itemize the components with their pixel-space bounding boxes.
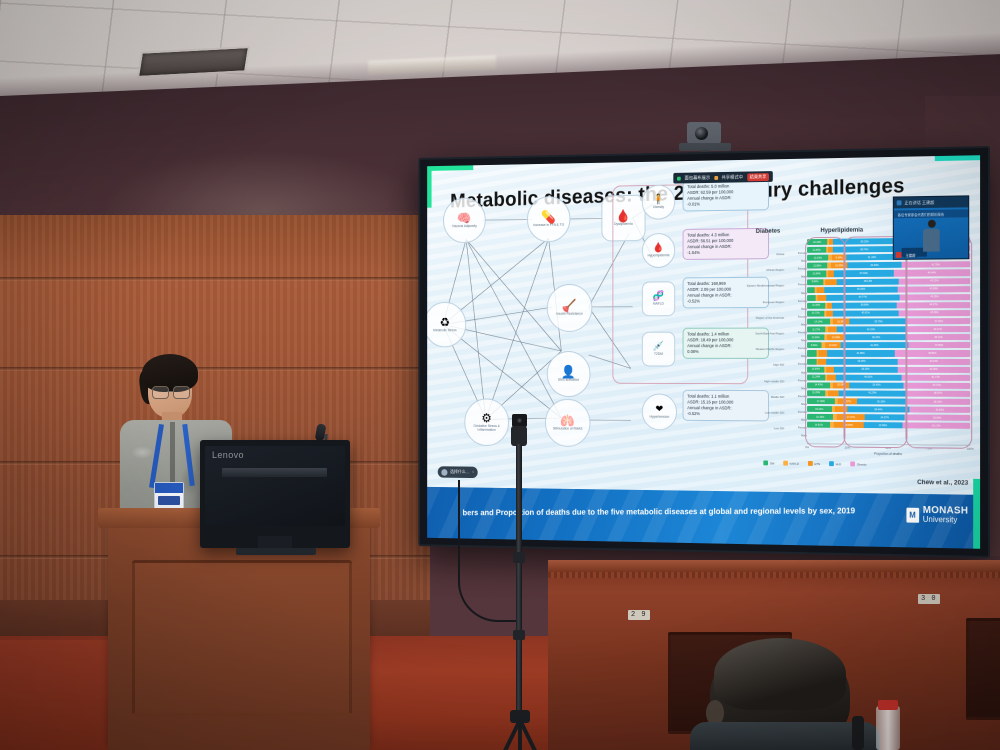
chart-segment-hld: 38.25% xyxy=(845,334,907,340)
node-label: Hypertension xyxy=(650,415,670,419)
chart-segment-obesity: 43.38% xyxy=(899,310,970,316)
pip-torso xyxy=(923,229,940,252)
pip-banner: 各位专家参会代表们的精彩报告 xyxy=(894,209,968,218)
chart-bar-row: 14.51%18.05%23.89%41.17% xyxy=(807,422,970,429)
chart-segment-dm: 11.84% xyxy=(807,271,826,277)
chart-row-label: Male xyxy=(786,260,809,263)
legend-swatch-icon xyxy=(808,461,813,466)
chart-segment-hld: 39.23% xyxy=(833,238,897,245)
chart-segment-obesity: 44.37% xyxy=(897,302,970,309)
outcome-node-nafld[interactable]: 🧬 NAFLD xyxy=(642,281,675,316)
chart-segment-dm: 14.14% xyxy=(807,319,830,325)
screen-green-accent-top-left xyxy=(427,165,473,171)
chart-segment-htn: 11.87% xyxy=(837,398,856,404)
stacked-bar-chart: Diabetes Hyperlipidemia Obesity Female12… xyxy=(752,225,976,469)
liver-icon: 🧬 xyxy=(653,292,665,302)
chart-region-label: High SDI xyxy=(733,364,784,367)
chart-segment-hld: 38.13% xyxy=(837,278,899,285)
tripod-pole xyxy=(516,444,522,714)
chart-row-label: Female xyxy=(786,331,809,334)
signal-icon xyxy=(677,176,681,180)
node-label: T2DM xyxy=(654,353,663,357)
chart-segment-htn: 10.09% xyxy=(833,382,849,388)
chart-segment-obesity: 41.17% xyxy=(902,423,970,430)
chart-region-label: Low SDI xyxy=(733,427,784,431)
chart-segment-dm: 13.33% xyxy=(807,255,828,261)
monitor-stand-foot xyxy=(236,548,316,555)
chart-segment-dm: 14.51% xyxy=(807,422,830,428)
chart-segment-hld: 33.43% xyxy=(849,382,903,388)
chart-row-label: Female xyxy=(786,268,809,271)
chart-segment-htn xyxy=(818,358,826,364)
pip-footer: 王建超 xyxy=(896,252,918,258)
legend-swatch-icon xyxy=(763,460,768,465)
chart-row-label: Male xyxy=(786,355,809,358)
pip-head xyxy=(927,220,935,228)
chart-region-label: Region of the Americas xyxy=(733,317,784,320)
monash-subtext: University xyxy=(923,516,968,525)
chart-legend-item: HTN xyxy=(808,461,821,466)
diagram-node-sns-activation[interactable]: 👤 SNS activation xyxy=(547,351,591,397)
chart-region-label: Middle SDI xyxy=(733,396,784,399)
badge-name-block xyxy=(158,496,180,505)
carpet-left xyxy=(0,640,120,750)
chart-row-label: Female xyxy=(786,284,809,287)
chart-segment-htn xyxy=(828,326,836,332)
chart-segment-dm: 9.84% xyxy=(807,279,823,285)
chart-bar-row: 11.34%39.88%44.37% xyxy=(807,302,970,309)
stat-change-value: -0.01% xyxy=(687,201,764,208)
bottle-cap xyxy=(878,700,898,710)
chart-segment-hld: 39.88% xyxy=(832,302,897,308)
chart-segment-obesity: 39.94% xyxy=(904,415,970,422)
chart-segment-dm xyxy=(807,350,817,356)
chart-segment-hld: 35.73% xyxy=(850,318,908,324)
chart-segment-hld: 40.51% xyxy=(836,374,902,380)
chart-bar-row: 10.72%40.61%43.38% xyxy=(807,310,970,317)
chart-segment-htn: 18.05% xyxy=(834,422,863,428)
chart-region-label: Low-middle SDI xyxy=(733,411,784,414)
chart-segment-hld: 41.25% xyxy=(841,342,908,348)
chart-segment-hld: 32.94% xyxy=(848,262,902,269)
chart-legend: DMNAFLDHTNHLDObesity xyxy=(763,460,866,466)
screen-corner-pill[interactable]: 选择什么… ‹ xyxy=(438,466,478,478)
monash-wordmark: MONASH xyxy=(923,506,968,517)
chart-segment-htn xyxy=(828,390,838,396)
stop-share-button[interactable]: 结束共享 xyxy=(747,173,769,181)
chart-row-label: Female xyxy=(786,315,809,318)
share-mode-label: 共享模式中 xyxy=(721,174,743,180)
chart-region-label: Western Pacific Region xyxy=(733,348,784,351)
chart-bar-row: 10.84%39.15%44.26% xyxy=(807,366,970,372)
water-bottle xyxy=(876,706,900,750)
chart-segment-obesity: 43.22% xyxy=(899,278,970,285)
chart-x-tick: 100% xyxy=(967,447,974,451)
chart-bar-row: 17.08%11.87%30.18%39.03% xyxy=(807,398,970,405)
corner-pill-label: 选择什么… xyxy=(450,469,470,475)
glasses-lens-right xyxy=(173,386,190,399)
chart-segment-dm: 11.27% xyxy=(807,327,825,333)
legend-label: DM xyxy=(770,461,774,465)
chart-bar-row: 11.29%41.29%38.97% xyxy=(807,390,970,397)
kidney-lungs-icon: 🫁 xyxy=(560,414,575,427)
chart-segment-hld: 42.32% xyxy=(837,326,906,332)
chart-bar-row: 45.04%43.98% xyxy=(807,286,970,293)
chart-segment-obesity: 43.98% xyxy=(898,286,970,293)
pip-video-window[interactable]: 正在讲话 王建超 各位专家参会代表们的精彩报告 xyxy=(893,195,969,260)
audience-member-hair xyxy=(714,638,846,710)
chart-segment-hld: 41.86% xyxy=(827,350,895,356)
chart-segment-dm xyxy=(807,295,816,301)
chart-x-tick: 75% xyxy=(926,446,932,450)
speaker-icon xyxy=(897,200,902,205)
pip-speaker-figure xyxy=(923,220,940,254)
chart-row-label: Male xyxy=(786,323,809,326)
chart-segment-obesity: 41.78% xyxy=(901,261,970,268)
app-icon xyxy=(441,469,447,476)
chart-bar-row: 10.69%10.99%38.25%38.14% xyxy=(807,334,970,340)
chart-segment-obesity: 36.69% xyxy=(910,407,970,414)
pip-video-feed: 各位专家参会代表们的精彩报告 王建超 xyxy=(894,207,968,259)
chart-segment-obesity: 38.97% xyxy=(906,391,970,397)
bench-panel xyxy=(966,618,1000,720)
recycle-icon: ♻ xyxy=(440,316,450,328)
chart-segment-dm xyxy=(807,287,815,293)
monitor-brand-label: Lenovo xyxy=(212,450,244,460)
screen-green-accent-left xyxy=(427,166,431,208)
chart-region-label: South-East Asia Region xyxy=(733,332,784,335)
tripod-camera-lens-icon xyxy=(517,418,522,423)
chart-row-label: Male xyxy=(786,419,809,422)
chart-row-label: Male xyxy=(786,339,809,342)
chart-x-tick: 25% xyxy=(845,446,851,450)
chart-segment-htn xyxy=(818,295,827,301)
chart-segment-hld: 41.29% xyxy=(839,390,906,396)
chart-segment-dm: 16.33% xyxy=(807,414,833,420)
node-label: Insulin Resistance xyxy=(556,313,583,317)
chart-segment-obesity: 46.44% xyxy=(894,270,970,277)
nervous-system-icon: 👤 xyxy=(561,365,576,377)
chart-segment-obesity: 45.85% xyxy=(895,350,970,356)
chart-legend-item: NAFLD xyxy=(783,461,799,466)
legend-label: Obesity xyxy=(857,462,867,466)
chart-bar-row: 12.58%10.59%32.94%41.78% xyxy=(807,261,970,269)
mic-icon xyxy=(714,176,718,180)
tripod-joint xyxy=(513,552,525,563)
chart-segment-obesity: 39.27% xyxy=(905,326,970,332)
chart-row-label: Female xyxy=(786,300,809,303)
node-label: Metabolic Stress xyxy=(433,329,457,333)
camera-tripod xyxy=(500,420,540,750)
photo-scene: Metabolic diseases: the 21st century cha… xyxy=(0,0,1000,750)
legend-swatch-icon xyxy=(850,461,855,466)
chart-bar-row: 16.33%17.47%24.07%39.94% xyxy=(807,414,970,421)
chart-segment-obesity: 43.05% xyxy=(899,294,970,301)
wood-seam xyxy=(0,277,430,281)
chart-row-label: Female xyxy=(786,411,809,414)
chart-row-label: Female xyxy=(786,347,809,350)
chart-row-label: Male xyxy=(786,435,809,438)
chart-region-label: Global xyxy=(733,253,784,257)
chart-segment-dm: 17.08% xyxy=(807,398,834,404)
node-label: Stimulation of RAAS xyxy=(553,428,583,432)
chart-bar-row: 41.86%45.85% xyxy=(807,350,970,356)
pip-speaker-label: 正在讲话 王建超 xyxy=(904,199,934,205)
chart-bar-row: 14.43%10.09%33.43%40.31% xyxy=(807,382,970,389)
oxidative-icon: ⚙ xyxy=(481,412,491,424)
chart-segment-obesity: 40.31% xyxy=(904,383,970,389)
chart-segment-obesity: 38.14% xyxy=(907,334,970,340)
chart-segment-htn xyxy=(835,406,847,412)
podium-front-panel xyxy=(132,560,352,716)
chart-segment-htn: 9.34% xyxy=(831,255,846,261)
chart-bar-row: 11.24%40.51%41.77% xyxy=(807,374,970,381)
chart-segment-obesity: 41.77% xyxy=(901,374,970,380)
chart-segment-dm: 11.84% xyxy=(807,247,826,253)
chart-segment-htn: 10.04% xyxy=(825,342,841,348)
legend-swatch-icon xyxy=(829,461,834,466)
seat-number-30: 3 0 xyxy=(918,594,940,604)
chart-row-label: Male xyxy=(786,292,809,295)
chart-segment-hld: 37.04% xyxy=(834,270,894,277)
brain-icon: 🧠 xyxy=(457,212,471,225)
chart-region-label: Eastern Mediterranean Region xyxy=(733,285,784,288)
node-label: Hyperlipidemia xyxy=(647,254,669,258)
chart-segment-hld: 43.94% xyxy=(826,358,897,364)
glasses-lens-left xyxy=(152,386,169,399)
lipid-icon: 🩸 xyxy=(653,243,665,253)
node-label: NAFLD xyxy=(653,302,664,306)
tripod-cable xyxy=(458,480,522,622)
chart-row-label: Male xyxy=(786,308,809,311)
screen-share-toolbar[interactable]: 面包幕布展示 共享模式中 结束共享 xyxy=(673,171,773,184)
pills-icon: 💊 xyxy=(541,211,556,224)
chart-row-label: Female xyxy=(786,252,809,255)
legend-label: NAFLD xyxy=(790,461,799,465)
insulin-icon: 💉 xyxy=(653,342,665,352)
diagram-node-insulin-resistance[interactable]: 🪠 Insulin Resistance xyxy=(547,284,592,332)
bench-moulding xyxy=(548,572,1000,578)
chart-segment-htn: 10.39% xyxy=(833,318,850,324)
chart-segment-dm: 11.29% xyxy=(807,390,825,396)
chevron-left-icon[interactable]: ‹ xyxy=(472,469,473,475)
outcome-node-t2dm[interactable]: 💉 T2DM xyxy=(642,332,675,367)
chart-segment-obesity: 37.90% xyxy=(908,318,970,324)
chart-segment-dm: 12.58% xyxy=(807,263,827,269)
tripod-joint xyxy=(513,630,525,640)
chart-x-axis-title: Proportion of deaths xyxy=(874,452,902,456)
outcome-node-hyperlipidemia[interactable]: 🩸 Hyperlipidemia xyxy=(642,233,675,268)
chart-segment-htn xyxy=(827,374,835,380)
chart-row-label: Male xyxy=(786,403,809,406)
pip-banner-text: 各位专家参会代表们的精彩报告 xyxy=(898,211,944,217)
chart-row-label: Female xyxy=(786,395,809,398)
chart-row-label: Male xyxy=(786,371,809,374)
chart-segment-dm: 14.43% xyxy=(807,382,830,388)
heart-icon: ❤ xyxy=(656,405,664,415)
chart-group-header-diabetes: Diabetes xyxy=(756,228,780,235)
monash-mark: M xyxy=(906,507,919,522)
chart-legend-item: Obesity xyxy=(850,461,867,466)
chart-bar-row: 11.27%42.32%39.27% xyxy=(807,326,970,333)
chart-row-label: Female xyxy=(786,427,809,430)
chart-segment-htn xyxy=(825,279,837,285)
stat-box-obesity: Total deaths: 5.0 million ASDR: 62.59 pe… xyxy=(683,179,769,212)
chart-segment-dm: 11.34% xyxy=(807,303,825,309)
chart-segment-hld: 44.77% xyxy=(827,294,900,301)
camera-lens-icon xyxy=(695,127,708,140)
chart-segment-htn xyxy=(817,287,825,293)
monash-logo: M MONASH University xyxy=(906,506,968,525)
node-label: Visceral Adiposity xyxy=(452,225,477,229)
chart-segment-dm: 8.84% xyxy=(807,342,821,348)
chart-row-label: Male xyxy=(786,276,809,279)
presenter-glasses xyxy=(152,386,189,397)
chart-bar-row: 11.84%37.04%46.44% xyxy=(807,270,970,277)
chart-group-header-hyperlipidemia: Hyperlipidemia xyxy=(820,227,863,234)
chart-segment-hld: 24.07% xyxy=(865,414,904,420)
chart-bar-row: 43.94%44.23% xyxy=(807,358,970,364)
tripod-head xyxy=(511,426,527,446)
badge-header xyxy=(155,483,183,493)
chart-bar-row: 15.21%38.44%36.69% xyxy=(807,406,970,413)
handheld-microphone xyxy=(852,716,864,750)
chart-x-tick: 50% xyxy=(885,446,891,450)
node-label: Increase in FFA & TG xyxy=(533,224,564,228)
chart-bar-row: 44.77%43.05% xyxy=(807,294,970,301)
chart-segment-htn xyxy=(827,366,834,372)
chart-segment-hld: 39.15% xyxy=(834,366,898,372)
chart-row-label: Male xyxy=(786,387,809,390)
chart-segment-hld: 31.33% xyxy=(847,254,898,261)
node-label: Obesity xyxy=(653,206,664,210)
chart-segment-dm: 11.24% xyxy=(807,374,825,380)
slide-credit: Chew et al., 2023 xyxy=(917,479,968,487)
chart-segment-dm: 10.84% xyxy=(807,366,824,372)
chart-bar-row: 14.14%10.39%35.73%37.90% xyxy=(807,318,970,325)
chart-legend-item: HLD xyxy=(829,461,842,466)
bench-top-rail xyxy=(548,560,1000,572)
outcome-node-hypertension[interactable]: ❤ Hypertension xyxy=(642,393,677,430)
chart-bar-row: 8.84%10.04%41.25%37.69% xyxy=(807,342,970,348)
pancreas-icon: 🪠 xyxy=(562,299,577,312)
diagram-node-stimulation-raas[interactable]: 🫁 Stimulation of RAAS xyxy=(545,399,590,447)
chart-segment-hld: 30.18% xyxy=(857,398,906,404)
podium-monitor: Lenovo xyxy=(200,440,350,548)
legend-label: HLD xyxy=(835,462,841,466)
chart-segment-dm xyxy=(807,358,816,364)
chart-region-label: African Region xyxy=(733,269,784,273)
chart-region-label: High-middle SDI xyxy=(733,380,784,383)
chart-segment-dm: 10.69% xyxy=(807,334,824,340)
chart-region-label: European Region xyxy=(733,301,784,304)
chart-segment-obesity: 37.69% xyxy=(908,342,970,348)
rec-icon xyxy=(896,252,902,258)
chart-segment-hld: 38.74% xyxy=(833,246,896,253)
chart-segment-htn xyxy=(818,350,827,356)
chart-legend-item: DM xyxy=(763,460,774,465)
chart-segment-hld: 38.44% xyxy=(847,406,910,412)
seat-number-29: 2 9 xyxy=(628,610,650,620)
chart-segment-hld: 23.89% xyxy=(863,422,902,428)
chart-row-label: Female xyxy=(786,363,809,366)
screen-green-accent-top-right xyxy=(935,155,980,161)
chart-segment-htn: 10.59% xyxy=(831,263,848,269)
chart-segment-hld: 45.04% xyxy=(825,286,898,293)
chart-segment-dm: 10.72% xyxy=(807,311,824,317)
chart-segment-obesity: 44.23% xyxy=(897,358,970,364)
legend-swatch-icon xyxy=(783,461,788,466)
chart-segment-hld: 40.61% xyxy=(833,310,899,316)
chart-bar-row: 9.84%38.13%43.22% xyxy=(807,278,970,285)
chart-segment-htn: 17.47% xyxy=(837,414,865,420)
share-status-label: 面包幕布展示 xyxy=(684,175,710,181)
obesity-icon: 🧍 xyxy=(653,195,665,205)
screen-green-accent-bottom-right xyxy=(973,479,980,549)
chart-segment-dm: 12.44% xyxy=(807,239,827,245)
chart-segment-htn: 10.99% xyxy=(827,334,845,340)
pip-name-label: 王建超 xyxy=(904,252,918,257)
monitor-reflection xyxy=(222,468,327,477)
chart-x-tick: 0% xyxy=(805,445,809,449)
legend-label: HTN xyxy=(814,462,820,466)
chart-segment-dm: 15.21% xyxy=(807,406,831,412)
chart-plot-area: Female12.44%39.23%44.74%Male11.84%38.74%… xyxy=(807,237,970,445)
chart-row-label: Female xyxy=(786,379,809,382)
chart-segment-obesity: 39.03% xyxy=(906,399,970,405)
node-label: SNS activation xyxy=(558,379,579,383)
chart-segment-obesity: 44.26% xyxy=(897,366,970,372)
